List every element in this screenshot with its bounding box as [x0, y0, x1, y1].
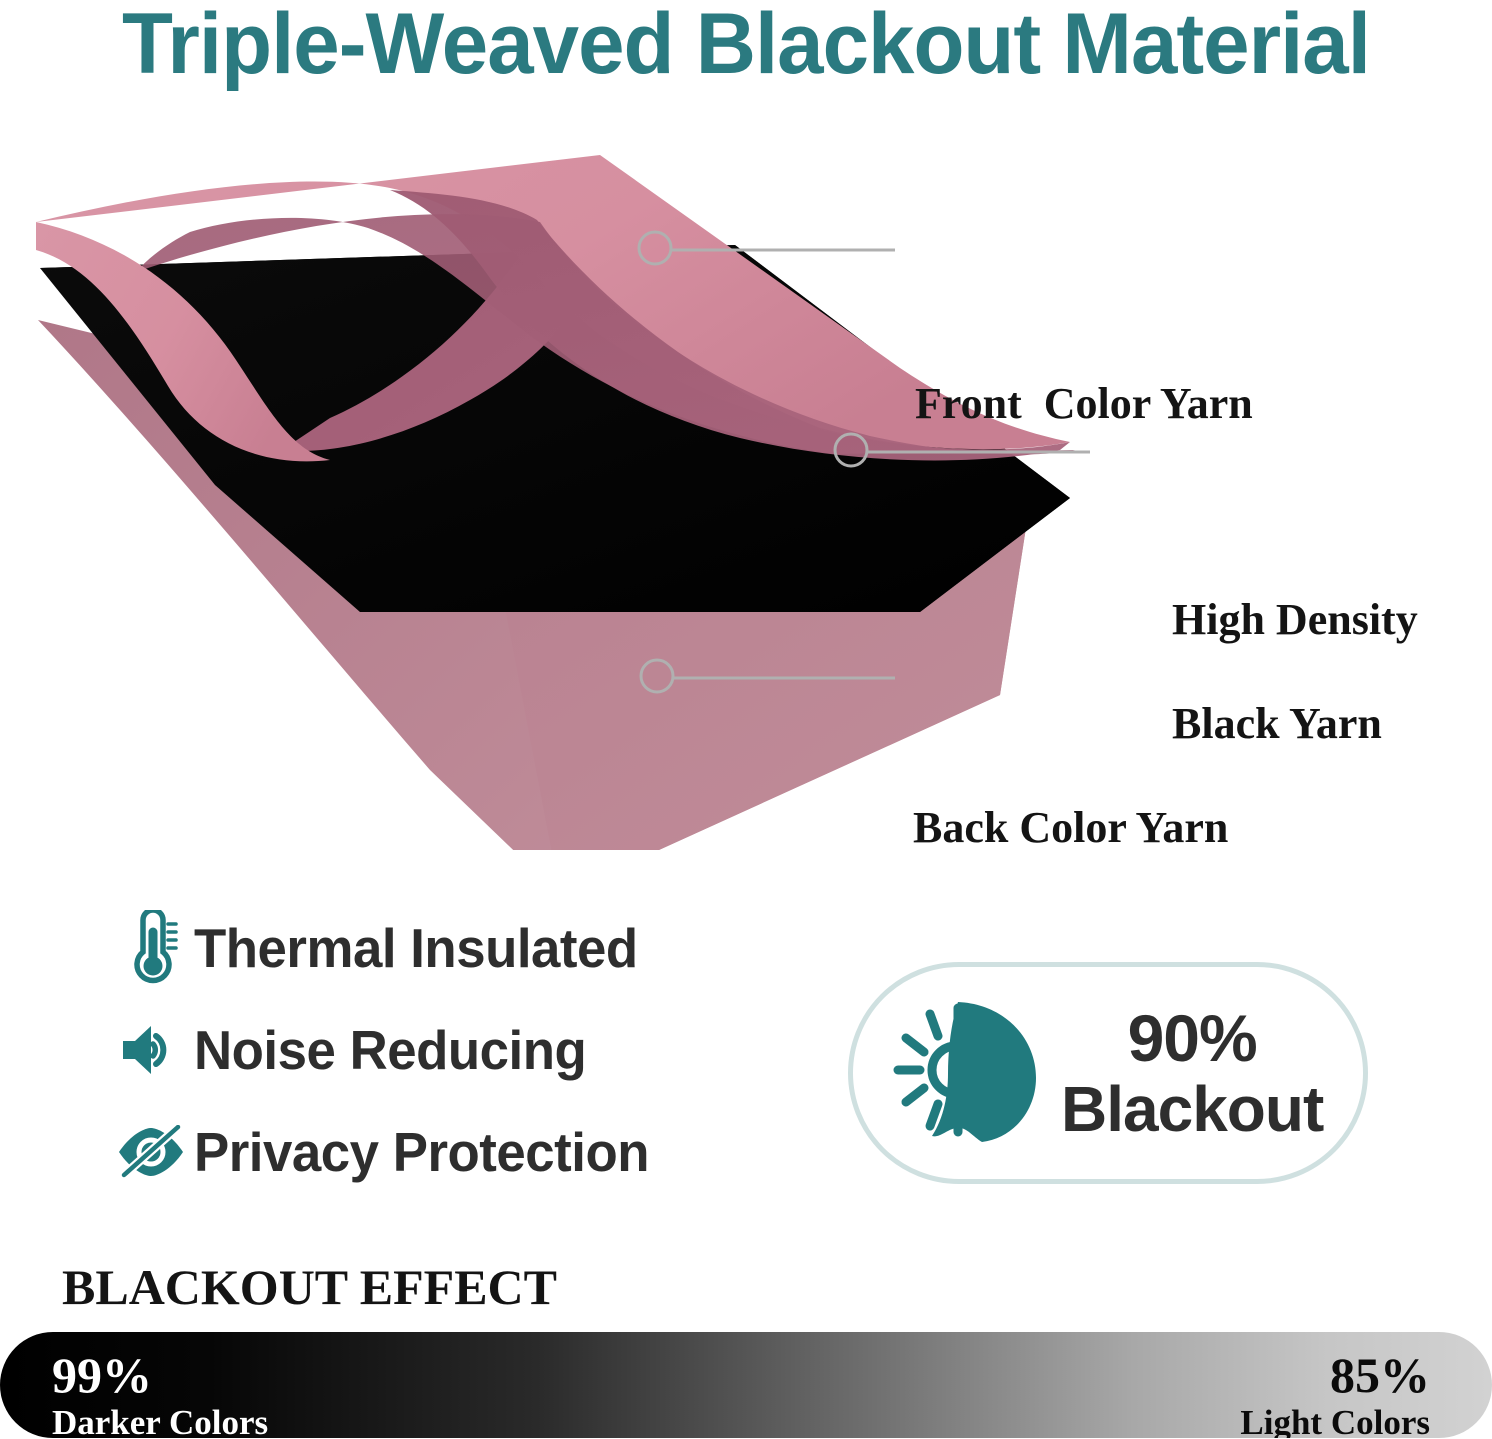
eye-off-icon: [108, 1125, 194, 1179]
feature-thermal-insulated: Thermal Insulated: [108, 898, 808, 998]
feature-label: Thermal Insulated: [194, 916, 638, 980]
label-line-1: High Density: [1172, 595, 1418, 644]
feature-list: Thermal Insulated Noise Reducing: [108, 898, 808, 1204]
thermometer-icon: [108, 910, 194, 986]
feature-noise-reducing: Noise Reducing: [108, 1000, 808, 1100]
page-title: Triple-Weaved Blackout Material: [22, 0, 1469, 92]
speaker-icon: [108, 1020, 194, 1080]
infographic-page: Triple-Weaved Blackout Material: [0, 0, 1492, 1439]
fabric-layer-diagram: Front Color Yarn High Density Black Yarn…: [0, 150, 1492, 850]
bar-left-stat: 99% Darker Colors: [52, 1350, 268, 1438]
label-front-color-yarn: Front Color Yarn: [915, 378, 1253, 430]
feature-label: Noise Reducing: [194, 1018, 586, 1082]
sun-blocked-icon: [853, 998, 1061, 1148]
label-line-2: Black Yarn: [1172, 699, 1382, 748]
blackout-effect-bar: 99% Darker Colors 85% Light Colors: [0, 1332, 1492, 1438]
blackout-percent: 90%: [1128, 1005, 1257, 1071]
bar-right-percent: 85%: [1240, 1350, 1430, 1400]
blackout-effect-heading: BLACKOUT EFFECT: [62, 1258, 557, 1316]
feature-label: Privacy Protection: [194, 1120, 649, 1184]
bar-left-percent: 99%: [52, 1350, 268, 1400]
feature-privacy-protection: Privacy Protection: [108, 1102, 808, 1202]
blackout-word: Blackout: [1061, 1077, 1323, 1141]
label-back-color-yarn: Back Color Yarn: [913, 802, 1228, 854]
bar-right-stat: 85% Light Colors: [1240, 1350, 1430, 1438]
label-high-density-black-yarn: High Density Black Yarn: [1106, 542, 1418, 802]
bar-right-label: Light Colors: [1240, 1405, 1430, 1438]
bar-left-label: Darker Colors: [52, 1405, 268, 1438]
blackout-badge: 90% Blackout: [848, 962, 1368, 1184]
